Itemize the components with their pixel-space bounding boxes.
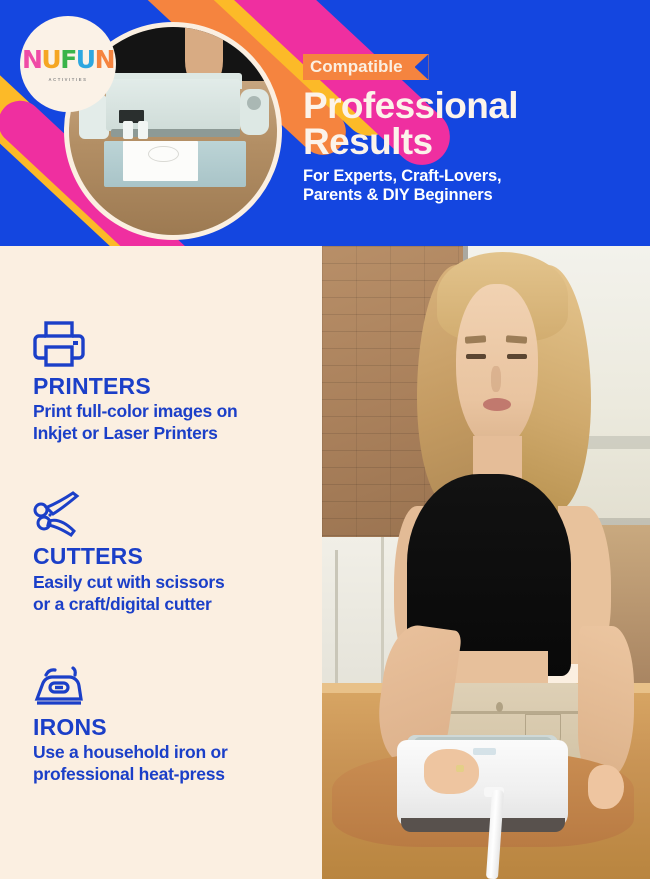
feature-desc-line-1: Use a household iron or <box>33 741 322 763</box>
feature-irons: IRONS Use a household iron or profession… <box>33 661 322 785</box>
logo-letter-2: U <box>41 47 60 72</box>
subheadline-line-2: Parents & DIY Beginners <box>303 186 643 205</box>
feature-desc-line-2: Inkjet or Laser Printers <box>33 422 322 444</box>
eyebrow-left <box>464 335 486 343</box>
brand-logo: NUFUN ACTIVITIES <box>20 16 116 112</box>
feature-cutters: CUTTERS Easily cut with scissors or a cr… <box>33 490 322 614</box>
iron-icon <box>33 661 322 711</box>
feature-description: Easily cut with scissors or a craft/digi… <box>33 571 322 615</box>
eye-right <box>507 354 527 360</box>
scissors-icon <box>33 490 322 540</box>
heat-press-lifestyle-photo <box>322 246 650 879</box>
header-banner: NUFUN ACTIVITIES Compatible Professional… <box>0 0 650 246</box>
paper-cut-outline <box>148 146 179 163</box>
arm-right <box>578 626 634 778</box>
logo-letter-4: U <box>76 47 95 72</box>
headline-line-1: Professional <box>303 88 643 124</box>
subheadline: For Experts, Craft-Lovers, Parents & DIY… <box>303 167 643 205</box>
headline-line-2: Results <box>303 124 643 160</box>
finger-ring <box>456 765 464 772</box>
logo-wordmark: NUFUN <box>22 47 114 72</box>
machine-tool-holder-a <box>123 121 133 140</box>
feature-title: PRINTERS <box>33 374 322 399</box>
logo-letter-3: F <box>60 47 76 72</box>
feature-desc-line-2: or a craft/digital cutter <box>33 593 322 615</box>
header-text-block: Compatible Professional Results For Expe… <box>303 54 643 204</box>
feature-list-panel: PRINTERS Print full-color images on Inkj… <box>0 246 322 879</box>
heat-press-button <box>473 748 496 755</box>
compatible-badge-wrap: Compatible <box>303 54 429 80</box>
logo-letter-1: N <box>22 47 41 72</box>
hand-left <box>424 749 480 793</box>
eye-left <box>466 354 486 360</box>
eyebrow-right <box>505 335 527 343</box>
jeans-button <box>496 702 503 712</box>
feature-description: Use a household iron or professional hea… <box>33 741 322 785</box>
feature-desc-line-1: Easily cut with scissors <box>33 571 322 593</box>
printer-icon <box>33 320 322 370</box>
headline: Professional Results <box>303 88 643 160</box>
hand-right <box>588 765 624 809</box>
logo-letter-5: N <box>95 47 114 72</box>
feature-title: IRONS <box>33 715 322 740</box>
feature-description: Print full-color images on Inkjet or Las… <box>33 400 322 444</box>
compatible-badge: Compatible <box>303 54 429 80</box>
feature-title: CUTTERS <box>33 544 322 569</box>
machine-tool-holder-b <box>138 121 148 140</box>
feature-desc-line-1: Print full-color images on <box>33 400 322 422</box>
feature-desc-line-2: professional heat-press <box>33 763 322 785</box>
subheadline-line-1: For Experts, Craft-Lovers, <box>303 167 643 186</box>
lips <box>483 398 511 411</box>
nose <box>491 366 501 391</box>
feature-printers: PRINTERS Print full-color images on Inkj… <box>33 320 322 444</box>
heat-press-base-plate <box>401 818 565 832</box>
logo-tagline: ACTIVITIES <box>48 77 87 82</box>
